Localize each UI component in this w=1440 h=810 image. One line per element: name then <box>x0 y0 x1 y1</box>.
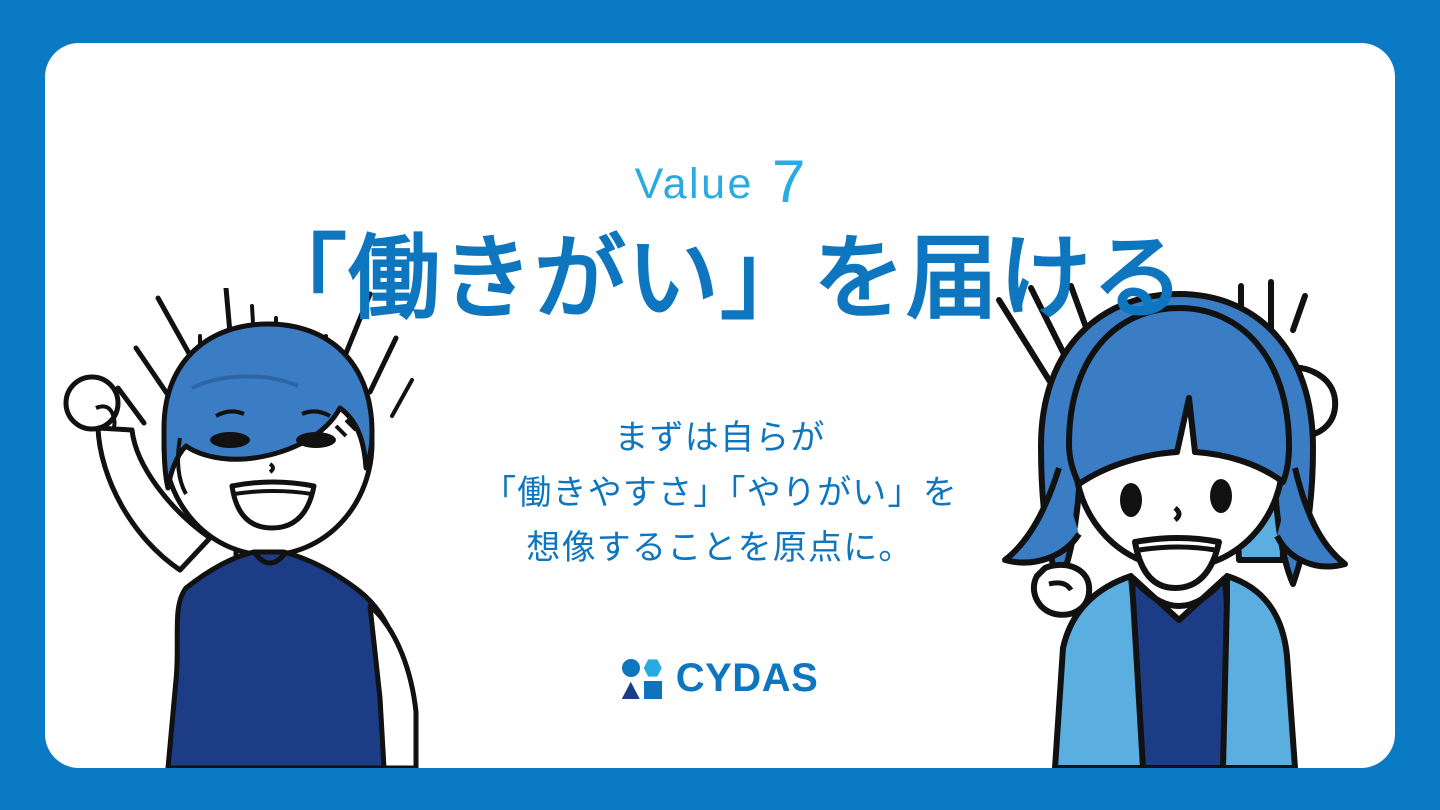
content-card: Value7 「働きがい」を届ける まずは自らが 「働きやすさ」「やりがい」を … <box>45 43 1395 768</box>
cydas-logo-mark <box>622 659 662 697</box>
illustration-man-cheering <box>45 288 470 768</box>
triangle-icon <box>622 681 640 699</box>
illustration-woman-cheering <box>983 268 1395 768</box>
cydas-wordmark: CYDAS <box>676 658 819 698</box>
slide-root: Value7 「働きがい」を届ける まずは自らが 「働きやすさ」「やりがい」を … <box>0 0 1440 810</box>
hexagon-icon <box>644 659 662 677</box>
eyebrow-number: 7 <box>772 148 805 215</box>
eyebrow-label: Value <box>635 160 754 208</box>
square-icon <box>644 681 662 699</box>
circle-icon <box>622 659 640 677</box>
eyebrow-value: Value7 <box>45 148 1395 208</box>
